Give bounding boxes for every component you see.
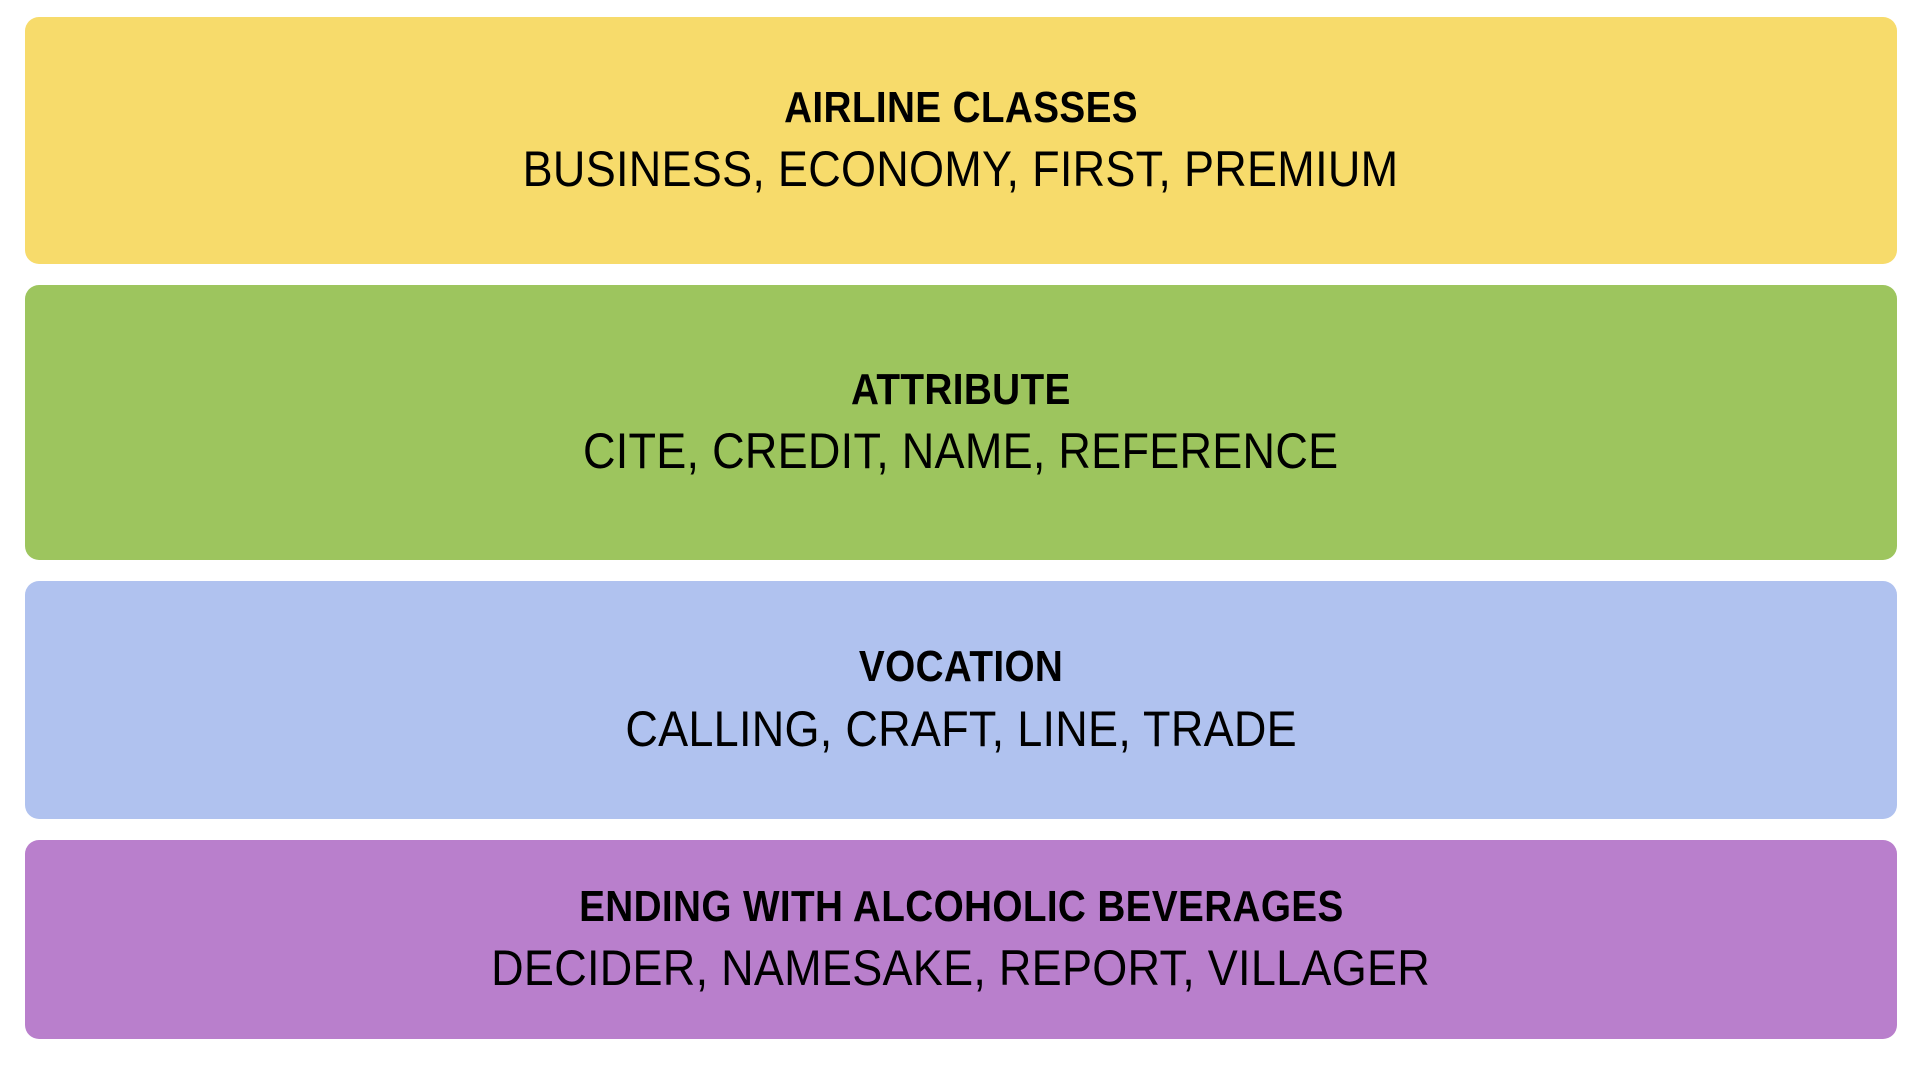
- group-words: DECIDER, NAMESAKE, REPORT, VILLAGER: [492, 940, 1431, 996]
- connections-answer-board: AIRLINE CLASSES BUSINESS, ECONOMY, FIRST…: [0, 0, 1920, 1080]
- group-card-yellow[interactable]: AIRLINE CLASSES BUSINESS, ECONOMY, FIRST…: [25, 17, 1897, 264]
- group-card-green[interactable]: ATTRIBUTE CITE, CREDIT, NAME, REFERENCE: [25, 285, 1897, 560]
- group-title: ATTRIBUTE: [851, 366, 1071, 414]
- group-card-blue[interactable]: VOCATION CALLING, CRAFT, LINE, TRADE: [25, 581, 1897, 819]
- group-words: CITE, CREDIT, NAME, REFERENCE: [583, 423, 1338, 479]
- group-title: ENDING WITH ALCOHOLIC BEVERAGES: [579, 883, 1344, 931]
- group-words: BUSINESS, ECONOMY, FIRST, PREMIUM: [523, 141, 1399, 197]
- group-title: AIRLINE CLASSES: [784, 84, 1138, 132]
- group-title: VOCATION: [859, 643, 1063, 691]
- group-words: CALLING, CRAFT, LINE, TRADE: [625, 701, 1297, 757]
- group-card-purple[interactable]: ENDING WITH ALCOHOLIC BEVERAGES DECIDER,…: [25, 840, 1897, 1039]
